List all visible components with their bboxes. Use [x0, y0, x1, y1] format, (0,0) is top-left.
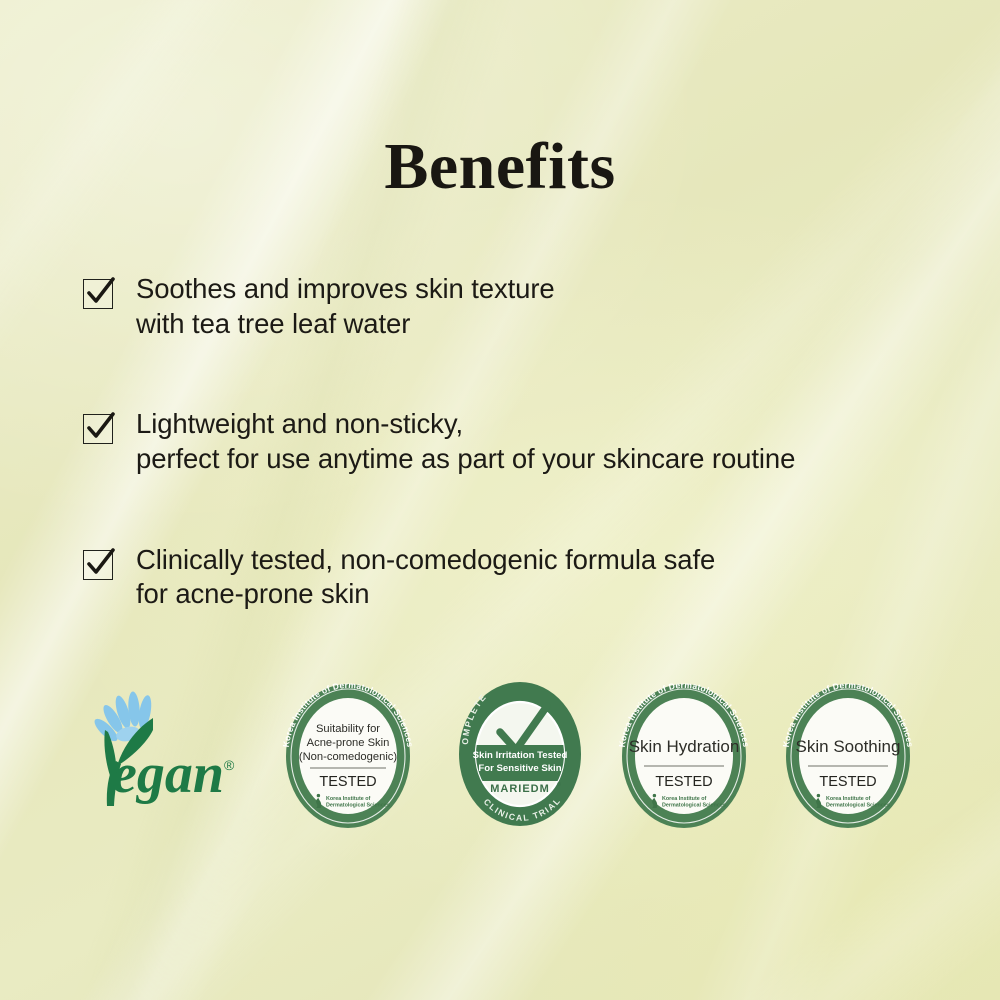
badge-brand: MARIEDM [490, 783, 550, 795]
benefit-line-2: for acne-prone skin [136, 577, 715, 612]
benefit-text: Lightweight and non-sticky, perfect for … [136, 407, 795, 476]
badge-line-3: (Non-comedogenic) [299, 751, 398, 763]
badge-line-2: For Sensitive Skin [478, 763, 561, 774]
checkbox-checked-icon [82, 411, 116, 445]
benefit-item: Lightweight and non-sticky, perfect for … [82, 407, 952, 476]
badge-footer-line-1: Korea Institute of [662, 796, 707, 802]
benefit-line-2: perfect for use anytime as part of your … [136, 442, 795, 477]
badge-skin-soothing: Korea Institute of Dermatological Scienc… [772, 676, 924, 836]
badge-footer-line-2: Dermatological Sciences [662, 803, 726, 809]
benefits-list: Soothes and improves skin texture with t… [82, 272, 952, 612]
benefit-line-2: with tea tree leaf water [136, 307, 555, 342]
badge-brand-mark: ® [557, 781, 561, 788]
benefit-line-1: Clinically tested, non-comedogenic formu… [136, 544, 715, 575]
checkbox-checked-icon [82, 547, 116, 581]
benefit-line-1: Soothes and improves skin texture [136, 273, 555, 304]
badge-result: TESTED [655, 774, 712, 790]
badge-acne-prone: Korea Institute of Dermatological Scienc… [272, 676, 424, 836]
badge-result: TESTED [819, 774, 876, 790]
badge-footer-line-2: Dermatological Sciences [326, 803, 390, 809]
benefits-page: Benefits Soothes and improves skin textu… [0, 0, 1000, 1000]
benefit-item: Soothes and improves skin texture with t… [82, 272, 952, 341]
certification-row: egan ® Korea Institute of Dermatological… [0, 676, 1000, 856]
badge-footer-line-1: Korea Institute of [326, 796, 371, 802]
badge-line-1: Suitability for [316, 723, 380, 735]
badge-footer-line-1: Korea Institute of [826, 796, 871, 802]
badge-line-2: Acne-prone Skin [307, 737, 390, 749]
badge-result: TESTED [319, 774, 376, 790]
benefit-line-1: Lightweight and non-sticky, [136, 408, 463, 439]
benefit-item: Clinically tested, non-comedogenic formu… [82, 543, 952, 612]
vegan-logo: egan ® [75, 688, 250, 828]
registered-mark: ® [224, 757, 235, 773]
page-title: Benefits [0, 129, 1000, 205]
badge-footer-line-2: Dermatological Sciences [826, 803, 890, 809]
badge-line-1: Skin Irritation Tested [473, 750, 568, 761]
benefit-text: Soothes and improves skin texture with t… [136, 272, 555, 341]
badge-skin-hydration: Korea Institute of Dermatological Scienc… [608, 676, 760, 836]
badge-line-1: Skin Soothing [796, 737, 901, 756]
badge-clinical-trial: Skin Irritation Tested For Sensitive Ski… [444, 676, 596, 836]
vegan-wordmark: egan [112, 743, 224, 805]
benefit-text: Clinically tested, non-comedogenic formu… [136, 543, 715, 612]
checkbox-checked-icon [82, 276, 116, 310]
badge-line-1: Skin Hydration [629, 737, 740, 756]
